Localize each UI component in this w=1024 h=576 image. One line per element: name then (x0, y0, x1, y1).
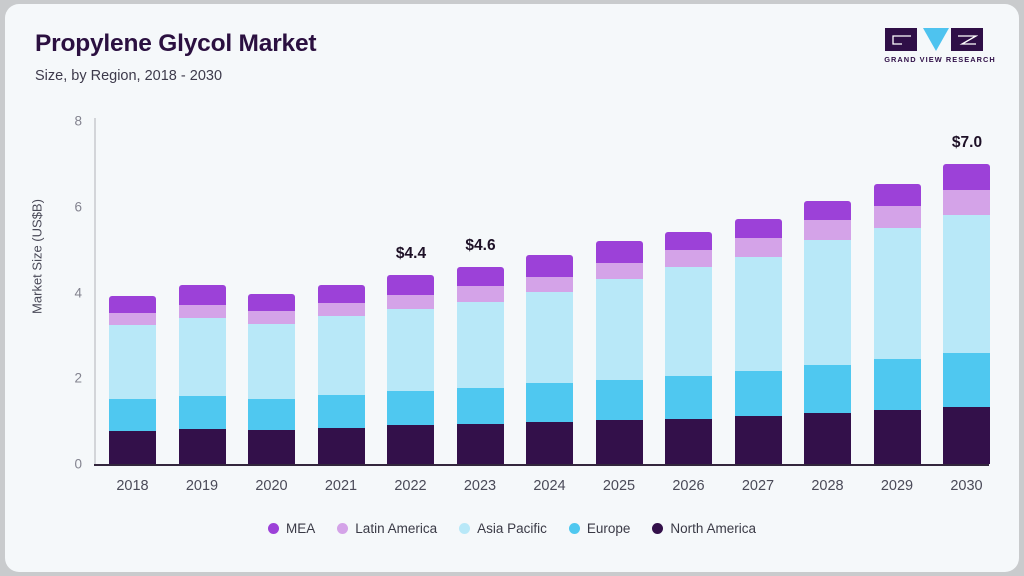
bar-segment-europe[interactable] (387, 391, 434, 425)
legend-label: MEA (286, 521, 315, 536)
y-axis-tick-label: 4 (60, 285, 82, 300)
bar-segment-europe[interactable] (179, 396, 226, 429)
bar-segment-latin-america[interactable] (943, 190, 990, 215)
bar-2019[interactable] (179, 285, 226, 464)
bar-segment-asia-pacific[interactable] (665, 267, 712, 375)
legend-item-asia-pacific[interactable]: Asia Pacific (459, 521, 547, 536)
bar-segment-europe[interactable] (318, 395, 365, 428)
bar-segment-mea[interactable] (457, 267, 504, 287)
grand-view-research-logo: GRAND VIEW RESEARCH (885, 28, 995, 68)
chart-legend: MEALatin AmericaAsia PacificEuropeNorth … (5, 521, 1019, 536)
x-axis-tick-label: 2018 (88, 478, 178, 494)
bar-segment-mea[interactable] (179, 285, 226, 305)
x-axis-tick-label: 2030 (922, 478, 1012, 494)
y-axis-tick-label: 2 (60, 371, 82, 386)
bar-segment-latin-america[interactable] (665, 250, 712, 267)
bar-segment-europe[interactable] (874, 359, 921, 410)
bar-segment-asia-pacific[interactable] (874, 228, 921, 359)
x-axis-tick-label: 2021 (296, 478, 386, 494)
logo-triangle-icon (923, 28, 949, 51)
bar-segment-north-america[interactable] (387, 425, 434, 463)
legend-label: North America (670, 521, 756, 536)
x-axis-line (94, 464, 989, 466)
bar-2027[interactable] (735, 219, 782, 464)
bar-segment-asia-pacific[interactable] (804, 240, 851, 364)
bar-value-label: $4.6 (436, 237, 526, 255)
legend-swatch-icon (569, 523, 580, 534)
bar-segment-asia-pacific[interactable] (735, 257, 782, 371)
bar-segment-latin-america[interactable] (596, 263, 643, 279)
bar-segment-north-america[interactable] (665, 419, 712, 464)
y-axis-tick-label: 6 (60, 199, 82, 214)
bar-segment-north-america[interactable] (735, 416, 782, 464)
legend-label: Latin America (355, 521, 437, 536)
bar-segment-europe[interactable] (665, 376, 712, 419)
logo-glyph-left-icon (891, 35, 912, 45)
bar-segment-latin-america[interactable] (109, 313, 156, 325)
bar-segment-latin-america[interactable] (318, 303, 365, 316)
bar-segment-north-america[interactable] (874, 410, 921, 464)
bar-segment-asia-pacific[interactable] (248, 324, 295, 399)
bar-segment-asia-pacific[interactable] (457, 302, 504, 389)
bar-segment-latin-america[interactable] (457, 286, 504, 301)
bar-segment-mea[interactable] (665, 232, 712, 250)
bar-segment-mea[interactable] (943, 164, 990, 190)
x-axis-tick-label: 2020 (227, 478, 317, 494)
bar-segment-north-america[interactable] (596, 420, 643, 464)
page-title: Propylene Glycol Market (35, 30, 316, 58)
bar-2028[interactable] (804, 201, 851, 464)
bar-segment-latin-america[interactable] (248, 311, 295, 323)
bar-segment-europe[interactable] (248, 399, 295, 430)
bar-2030[interactable] (943, 164, 990, 464)
bar-segment-north-america[interactable] (109, 431, 156, 464)
x-axis-tick-label: 2026 (644, 478, 734, 494)
logo-wordmark: GRAND VIEW RESEARCH (883, 55, 997, 64)
bar-2024[interactable] (526, 255, 573, 464)
legend-swatch-icon (268, 523, 279, 534)
x-axis-tick-label: 2025 (574, 478, 664, 494)
bar-segment-latin-america[interactable] (735, 238, 782, 256)
bar-segment-mea[interactable] (804, 201, 851, 220)
legend-item-latin-america[interactable]: Latin America (337, 521, 437, 536)
bar-segment-latin-america[interactable] (526, 277, 573, 292)
bar-2023[interactable] (457, 267, 504, 464)
bar-segment-north-america[interactable] (179, 429, 226, 464)
legend-label: Asia Pacific (477, 521, 547, 536)
bar-segment-mea[interactable] (526, 255, 573, 277)
x-axis-tick-label: 2029 (852, 478, 942, 494)
stacked-bar-chart: Market Size (US$B) 02468 201820192020202… (5, 4, 1019, 572)
bar-segment-europe[interactable] (596, 380, 643, 420)
bar-segment-latin-america[interactable] (179, 305, 226, 318)
bar-segment-asia-pacific[interactable] (526, 292, 573, 384)
bar-segment-asia-pacific[interactable] (179, 318, 226, 396)
bar-segment-europe[interactable] (526, 383, 573, 422)
chart-card: Propylene Glycol Market Size, by Region,… (5, 4, 1019, 572)
bar-segment-mea[interactable] (109, 296, 156, 313)
bar-2026[interactable] (665, 232, 712, 464)
bar-segment-north-america[interactable] (318, 428, 365, 464)
bar-value-label: $7.0 (922, 134, 1012, 152)
bar-segment-mea[interactable] (596, 241, 643, 263)
y-axis-label: Market Size (US$B) (30, 177, 45, 337)
bar-2022[interactable] (387, 275, 434, 464)
x-axis-tick-label: 2024 (505, 478, 595, 494)
bar-segment-europe[interactable] (735, 371, 782, 416)
bar-segment-europe[interactable] (943, 353, 990, 407)
bar-segment-north-america[interactable] (804, 413, 851, 464)
bar-segment-mea[interactable] (248, 294, 295, 311)
bar-segment-north-america[interactable] (248, 430, 295, 464)
bar-segment-mea[interactable] (874, 184, 921, 206)
bar-segment-mea[interactable] (318, 285, 365, 303)
bar-2029[interactable] (874, 184, 921, 464)
y-axis-line (94, 118, 96, 465)
bar-segment-mea[interactable] (387, 275, 434, 294)
legend-swatch-icon (337, 523, 348, 534)
bar-segment-asia-pacific[interactable] (596, 279, 643, 380)
x-axis-tick-label: 2027 (713, 478, 803, 494)
x-axis-tick-label: 2023 (435, 478, 525, 494)
legend-swatch-icon (459, 523, 470, 534)
bar-segment-europe[interactable] (457, 388, 504, 424)
legend-item-mea[interactable]: MEA (268, 521, 315, 536)
bar-2021[interactable] (318, 285, 365, 464)
bar-2020[interactable] (248, 294, 295, 464)
legend-label: Europe (587, 521, 631, 536)
bar-segment-north-america[interactable] (943, 407, 990, 464)
legend-item-europe[interactable]: Europe (569, 521, 631, 536)
bar-2025[interactable] (596, 241, 643, 464)
x-axis-tick-label: 2028 (783, 478, 873, 494)
y-axis-tick-label: 8 (60, 114, 82, 129)
bar-segment-latin-america[interactable] (874, 206, 921, 228)
bar-segment-europe[interactable] (804, 365, 851, 413)
x-axis-tick-label: 2022 (366, 478, 456, 494)
bar-segment-latin-america[interactable] (387, 295, 434, 309)
page-subtitle: Size, by Region, 2018 - 2030 (35, 68, 222, 84)
bar-value-label: $4.4 (366, 245, 456, 263)
bar-segment-north-america[interactable] (526, 422, 573, 464)
bar-segment-mea[interactable] (735, 219, 782, 239)
bar-segment-latin-america[interactable] (804, 220, 851, 240)
bar-segment-asia-pacific[interactable] (318, 316, 365, 395)
legend-swatch-icon (652, 523, 663, 534)
bar-segment-asia-pacific[interactable] (943, 215, 990, 353)
y-axis-tick-label: 0 (60, 457, 82, 472)
bar-segment-asia-pacific[interactable] (387, 309, 434, 391)
bar-segment-asia-pacific[interactable] (109, 325, 156, 399)
logo-glyph-right-icon (957, 35, 978, 45)
x-axis-tick-label: 2019 (157, 478, 247, 494)
bar-segment-europe[interactable] (109, 399, 156, 430)
legend-item-north-america[interactable]: North America (652, 521, 756, 536)
bar-2018[interactable] (109, 296, 156, 464)
bar-segment-north-america[interactable] (457, 424, 504, 464)
